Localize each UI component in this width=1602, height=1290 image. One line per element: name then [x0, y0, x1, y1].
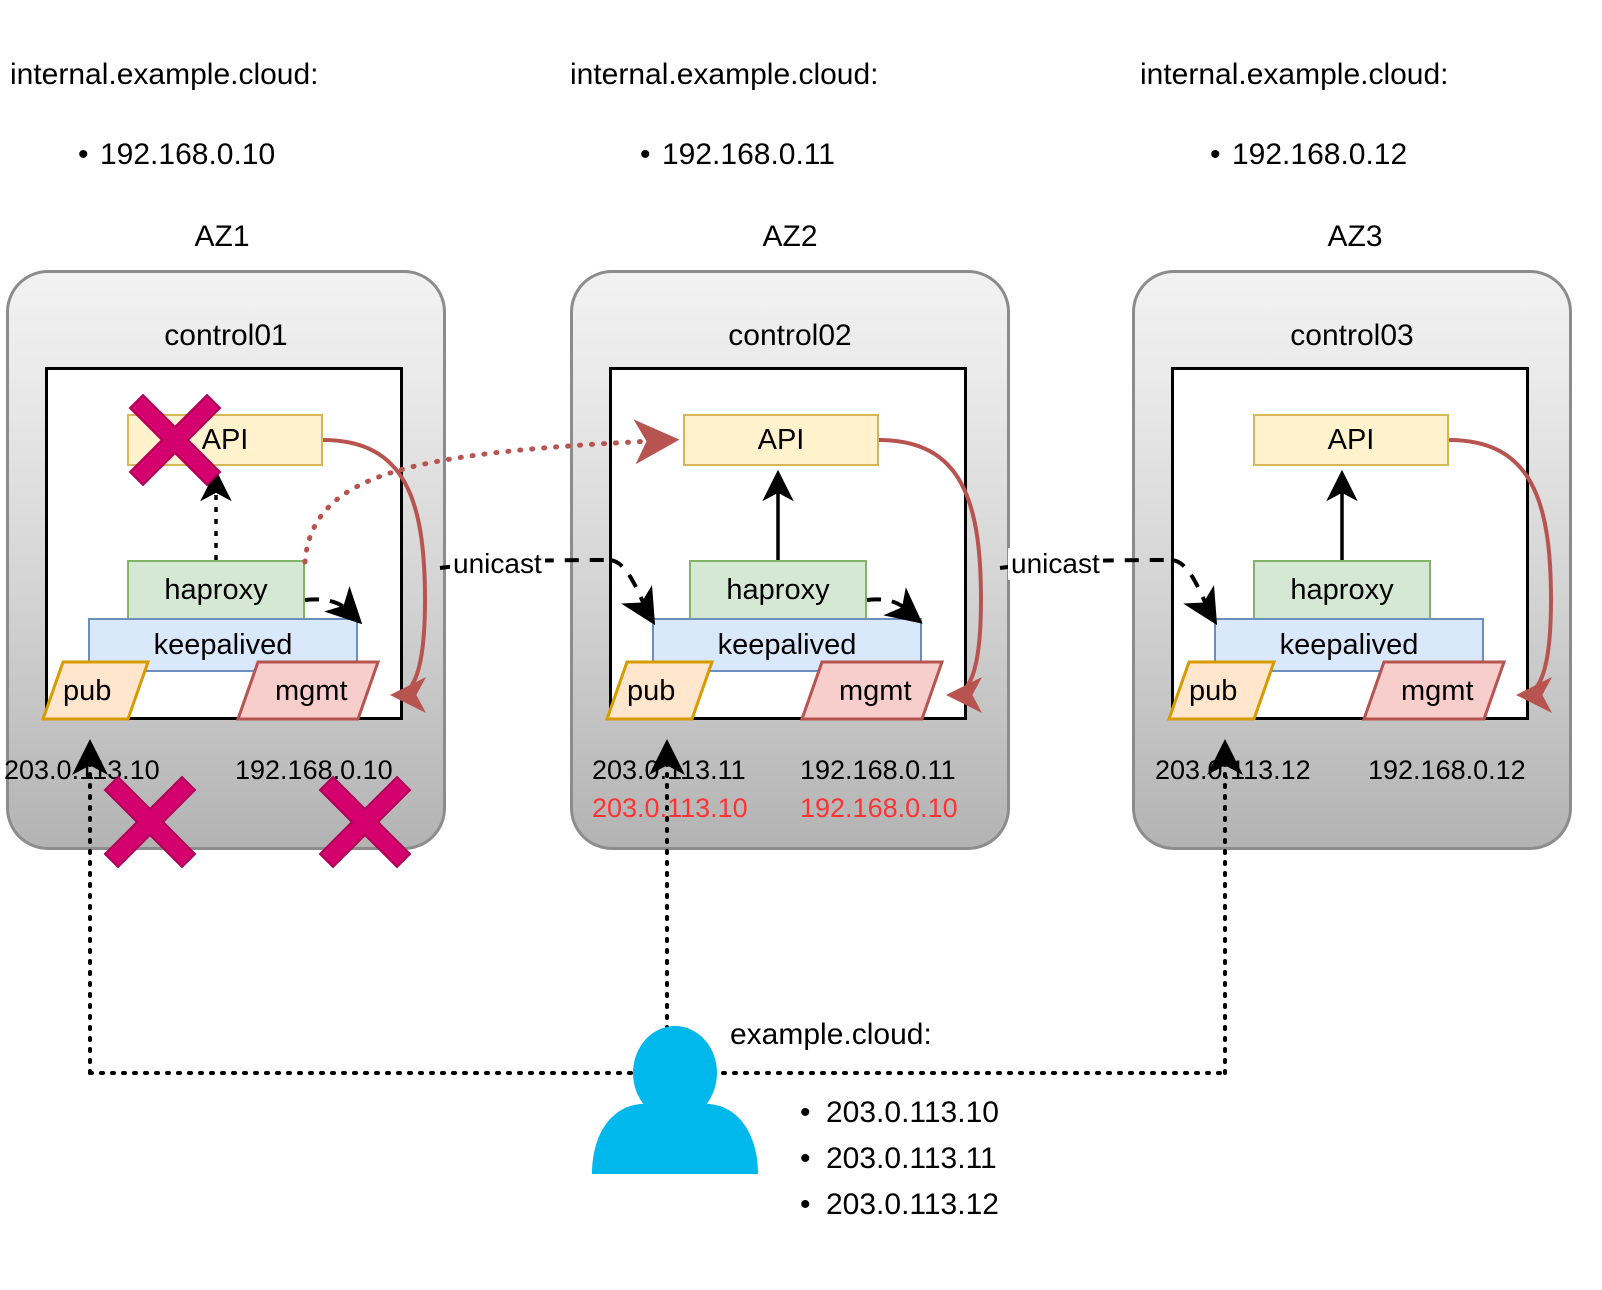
bullet-icon: • [1210, 138, 1232, 172]
pub-label-3: pub [1189, 675, 1237, 708]
pub-label-1: pub [63, 675, 111, 708]
mgmt-ip-failover-2: 192.168.0.10 [800, 793, 958, 824]
bullet-icon: • [800, 1136, 826, 1182]
pub-label-2: pub [627, 675, 675, 708]
bullet-icon: • [800, 1090, 826, 1136]
haproxy-node-3[interactable]: haproxy [1253, 560, 1431, 620]
pub-ip-3: 203.0.113.12 [1155, 755, 1311, 786]
client-ip-list: •203.0.113.10 •203.0.113.11 •203.0.113.1… [800, 1090, 999, 1228]
pub-ip-2: 203.0.113.11 [592, 755, 746, 786]
haproxy-node-2[interactable]: haproxy [689, 560, 867, 620]
client-head-icon [633, 1026, 717, 1120]
header-ip-az3: •192.168.0.12 [1210, 138, 1407, 172]
keepalived-node-3[interactable]: keepalived [1214, 618, 1484, 672]
host-label-control02: control02 [573, 319, 1007, 353]
mgmt-ip-3: 192.168.0.12 [1368, 755, 1526, 786]
header-domain-az3: internal.example.cloud: [1140, 58, 1449, 92]
mgmt-label-2: mgmt [839, 675, 912, 708]
mgmt-label-3: mgmt [1401, 675, 1474, 708]
api-node-3[interactable]: API [1253, 414, 1449, 466]
host-label-control03: control03 [1135, 319, 1569, 353]
host-label-control01: control01 [9, 319, 443, 353]
haproxy-node-1[interactable]: haproxy [127, 560, 305, 620]
header-ip-az1: •192.168.0.10 [78, 138, 275, 172]
bullet-icon: • [640, 138, 662, 172]
header-ip-az2: •192.168.0.11 [640, 138, 835, 172]
az-label-1: AZ1 [122, 220, 322, 254]
unicast-label-right: unicast [1008, 548, 1103, 580]
az-label-2: AZ2 [690, 220, 890, 254]
keepalived-node-2[interactable]: keepalived [652, 618, 922, 672]
mgmt-ip-1: 192.168.0.10 [235, 755, 393, 786]
mgmt-label-1: mgmt [275, 675, 348, 708]
api-node-2[interactable]: API [683, 414, 879, 466]
header-domain-az1: internal.example.cloud: [10, 58, 319, 92]
az-label-3: AZ3 [1255, 220, 1455, 254]
list-item: •203.0.113.12 [800, 1182, 999, 1228]
client-domain-title: example.cloud: [730, 1018, 932, 1052]
pub-ip-failover-2: 203.0.113.10 [592, 793, 748, 824]
bullet-icon: • [78, 138, 100, 172]
header-domain-az2: internal.example.cloud: [570, 58, 879, 92]
mgmt-ip-2: 192.168.0.11 [800, 755, 956, 786]
client-body-icon [592, 1104, 758, 1174]
keepalived-node-1[interactable]: keepalived [88, 618, 358, 672]
list-item: •203.0.113.10 [800, 1090, 999, 1136]
unicast-label-left: unicast [450, 548, 545, 580]
list-item: •203.0.113.11 [800, 1136, 999, 1182]
pub-ip-1: 203.0.113.10 [4, 755, 160, 786]
bullet-icon: • [800, 1182, 826, 1228]
api-node-1[interactable]: API [127, 414, 323, 466]
